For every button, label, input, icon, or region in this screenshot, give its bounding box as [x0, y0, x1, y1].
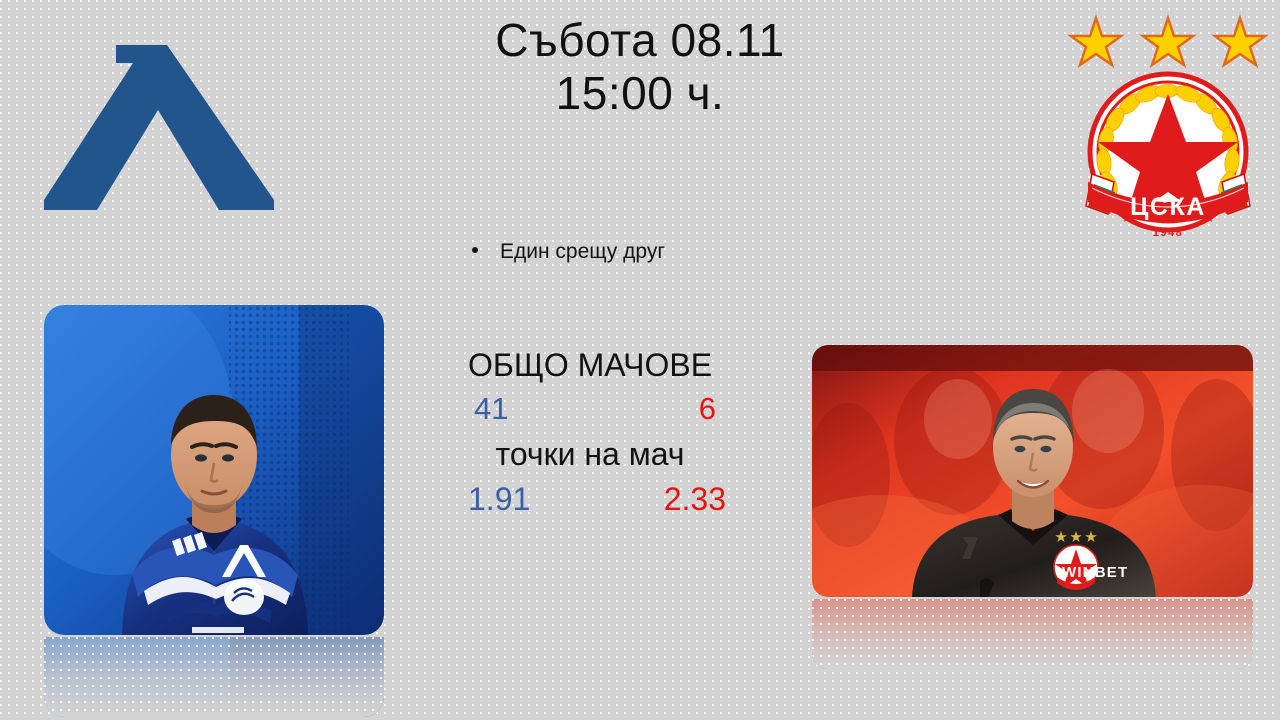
cska-coach-photo: WINBET: [812, 345, 1253, 597]
cska-crest-year: 1948: [1153, 227, 1183, 239]
match-datetime-title: Събота 08.11 15:00 ч.: [420, 14, 860, 121]
stat-total-matches-away: 6: [699, 387, 716, 432]
stat-label-points-per-match: точки на мач: [440, 437, 740, 472]
levski-photo-reflection: [44, 637, 384, 717]
bullet-label: Един срещу друг: [500, 240, 665, 264]
match-date: Събота 08.11: [420, 14, 860, 67]
bullet-head-to-head: Един срещу друг: [472, 240, 665, 264]
bullet-dot-icon: [472, 247, 478, 253]
stat-points-per-match-home: 1.91: [468, 476, 530, 522]
cska-shirt-sponsor-text: WINBET: [1062, 564, 1128, 581]
levski-lambda-icon: [44, 18, 274, 210]
match-time: 15:00 ч.: [420, 67, 860, 120]
stat-row-points-per-match: 1.91 2.33: [440, 472, 740, 522]
stat-label-total-matches: ОБЩО МАЧОВЕ: [440, 348, 740, 383]
stat-points-per-match-away: 2.33: [664, 476, 726, 522]
cska-photo-reflection: WINBET: [812, 599, 1253, 669]
cska-crest-icon: ЦСКА 1948: [1068, 12, 1268, 242]
stat-total-matches-home: 41: [474, 387, 508, 432]
match-preview-slide: Събота 08.11 15:00 ч.: [0, 0, 1280, 720]
cska-crest-name: ЦСКА: [1130, 193, 1206, 221]
levski-coach-photo: [44, 305, 384, 635]
stat-row-total-matches: 41 6: [440, 383, 740, 432]
head-to-head-stats: ОБЩО МАЧОВЕ 41 6 точки на мач 1.91 2.33: [440, 348, 740, 522]
